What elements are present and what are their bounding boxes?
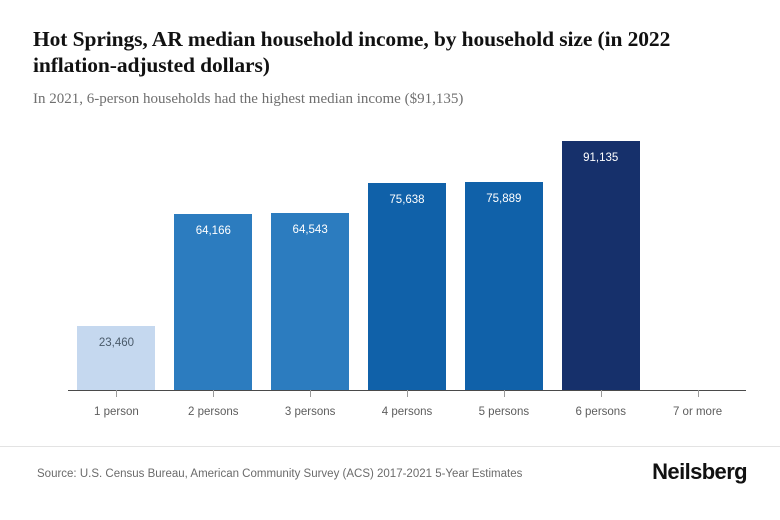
x-axis-tick-mark	[504, 390, 505, 397]
x-axis-tick-mark	[213, 390, 214, 397]
x-axis-tick-mark	[310, 390, 311, 397]
bar-value-label: 91,135	[562, 152, 640, 164]
x-axis-tick-label: 4 persons	[382, 406, 433, 418]
x-axis-tick-mark	[601, 390, 602, 397]
bar-4-persons[interactable]: 75,638	[368, 183, 446, 390]
bar-5-persons[interactable]: 75,889	[465, 182, 543, 390]
brand-logo: Neilsberg	[652, 459, 747, 485]
bar-value-label: 75,638	[368, 194, 446, 206]
bar-2-persons[interactable]: 64,166	[174, 214, 252, 390]
x-axis-tick-label: 5 persons	[479, 406, 530, 418]
footer-divider	[0, 446, 780, 447]
bar-value-label: 75,889	[465, 193, 543, 205]
chart-page: Hot Springs, AR median household income,…	[0, 0, 780, 520]
chart-subtitle: In 2021, 6-person households had the hig…	[33, 78, 723, 109]
source-note: Source: U.S. Census Bureau, American Com…	[37, 468, 522, 480]
bar-1-person[interactable]: 23,460	[77, 326, 155, 390]
bar-value-label: 64,543	[271, 224, 349, 236]
bar-value-label: 64,166	[174, 225, 252, 237]
x-axis-tick-mark	[407, 390, 408, 397]
chart-header: Hot Springs, AR median household income,…	[33, 26, 723, 109]
x-axis-tick-label: 6 persons	[575, 406, 626, 418]
x-axis-tick-label: 1 person	[94, 406, 139, 418]
chart-plot-area: 23,46064,16664,54375,63875,88991,135	[68, 130, 746, 390]
x-axis-tick-label: 7 or more	[673, 406, 722, 418]
bar-value-label: 23,460	[77, 337, 155, 349]
x-axis-tick-mark	[698, 390, 699, 397]
bar-3-persons[interactable]: 64,543	[271, 213, 349, 390]
x-axis-tick-mark	[116, 390, 117, 397]
bar-layer: 23,46064,16664,54375,63875,88991,135	[68, 130, 746, 390]
page-title: Hot Springs, AR median household income,…	[33, 26, 683, 78]
bar-6-persons[interactable]: 91,135	[562, 141, 640, 390]
x-axis-tick-label: 2 persons	[188, 406, 239, 418]
x-axis-tick-label: 3 persons	[285, 406, 336, 418]
